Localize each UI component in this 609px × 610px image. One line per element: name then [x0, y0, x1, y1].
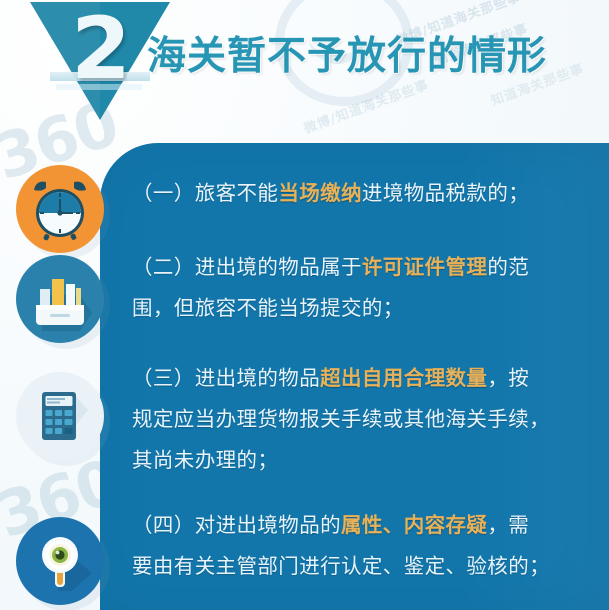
highlight-phrase: 当场缴纳: [278, 181, 362, 205]
clause-text-4: （四）对进出境物品的属性、内容存疑，需要由有关主管部门进行认定、鉴定、验核的；: [132, 505, 584, 587]
clause-line: 规定应当办理货物报关手续或其他海关手续，: [132, 399, 584, 440]
header: 2 海关暂不予放行的情形: [0, 0, 609, 132]
clause-line: 围，但旅容不能当场提交的；: [132, 288, 584, 329]
clause-segment: 围，但旅容不能当场提交的；: [132, 296, 404, 320]
clause-line: 要由有关主管部门进行认定、鉴定、验核的；: [132, 546, 584, 587]
magnifier-eye-icon: [16, 517, 104, 605]
clause-line: （三）进出境的物品超出自用合理数量，按: [132, 358, 584, 399]
clause-text-2: （二）进出境的物品属于许可证件管理的范围，但旅容不能当场提交的；: [132, 247, 584, 329]
calculator-icon: [16, 372, 104, 460]
document-tray-glyph: [16, 255, 104, 343]
clause-line: （四）对进出境物品的属性、内容存疑，需: [132, 505, 584, 546]
alarm-clock-icon: [16, 165, 104, 253]
clause-segment: ，需: [487, 513, 529, 537]
clause-segment: （二）进出境的物品属于: [132, 255, 362, 279]
clause-segment: 进境物品税款的；: [362, 181, 529, 205]
clause-list: （一）旅客不能当场缴纳进境物品税款的； （二）进出境的物品属于许可证件管理的范围…: [0, 143, 609, 610]
clause-text-1: （一）旅客不能当场缴纳进境物品税款的；: [132, 173, 584, 214]
page-title: 海关暂不予放行的情形: [147, 33, 547, 81]
highlight-phrase: 属性、内容存疑: [341, 513, 487, 537]
clause-segment: ，按: [487, 366, 529, 390]
document-tray-icon: [16, 255, 104, 343]
alarm-clock-glyph: [16, 165, 104, 253]
clause-line: 其尚未办理的；: [132, 440, 584, 481]
clause-line: （二）进出境的物品属于许可证件管理的范: [132, 247, 584, 288]
clause-segment: （四）对进出境物品的: [132, 513, 341, 537]
clause-segment: 的范: [487, 255, 529, 279]
calculator-glyph: [16, 372, 104, 460]
clause-segment: 规定应当办理货物报关手续或其他海关手续，: [132, 407, 550, 431]
highlight-phrase: 许可证件管理: [362, 255, 487, 279]
clause-segment: 要由有关主管部门进行认定、鉴定、验核的；: [132, 554, 550, 578]
clause-text-3: （三）进出境的物品超出自用合理数量，按规定应当办理货物报关手续或其他海关手续，其…: [132, 358, 584, 481]
clause-segment: （三）进出境的物品: [132, 366, 320, 390]
clause-segment: 其尚未办理的；: [132, 448, 278, 472]
highlight-phrase: 超出自用合理数量: [320, 366, 487, 390]
clause-line: （一）旅客不能当场缴纳进境物品税款的；: [132, 173, 584, 214]
infographic-canvas: 360 360 360 微博/知道海关那些事 知道海关那些事 微博/知道海关那些…: [0, 0, 609, 610]
magnifier-eye-glyph: [16, 517, 104, 605]
clause-segment: （一）旅客不能: [132, 181, 278, 205]
